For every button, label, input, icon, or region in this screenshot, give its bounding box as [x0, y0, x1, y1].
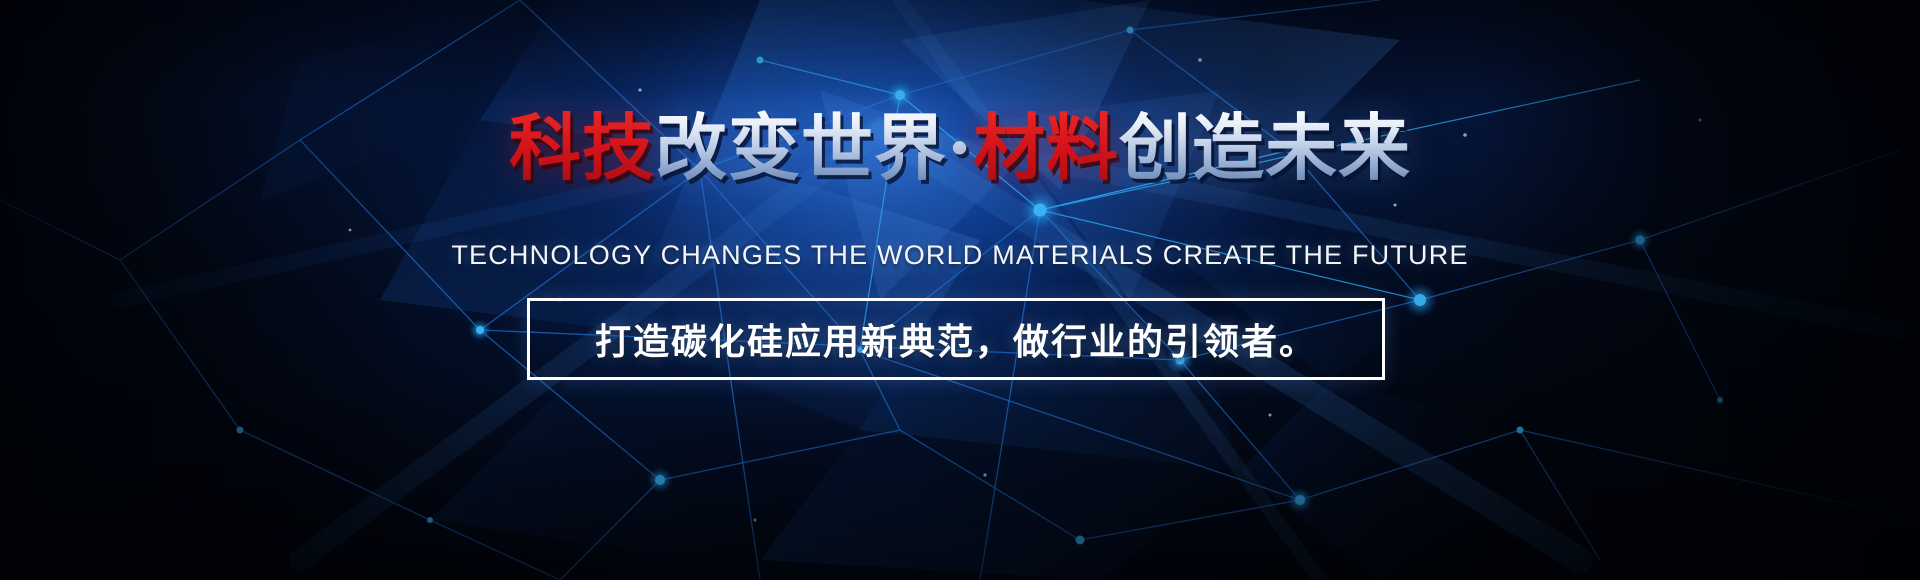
headline-segment-4: 创造未来	[1119, 105, 1411, 190]
headline-segment-1: 科技	[509, 105, 655, 190]
hero-banner: 科技改变世界·材料创造未来 TECHNOLOGY CHANGES THE WOR…	[0, 0, 1920, 580]
headline: 科技改变世界·材料创造未来	[0, 112, 1920, 184]
slogan-box: 打造碳化硅应用新典范，做行业的引领者。	[527, 298, 1385, 380]
headline-segment-3: 材料	[973, 105, 1119, 190]
slogan-text: 打造碳化硅应用新典范，做行业的引领者。	[595, 313, 1317, 365]
headline-segment-2: 改变世界·	[655, 105, 973, 190]
subtitle-english: TECHNOLOGY CHANGES THE WORLD MATERIALS C…	[0, 240, 1920, 271]
banner-content: 科技改变世界·材料创造未来 TECHNOLOGY CHANGES THE WOR…	[0, 0, 1920, 580]
